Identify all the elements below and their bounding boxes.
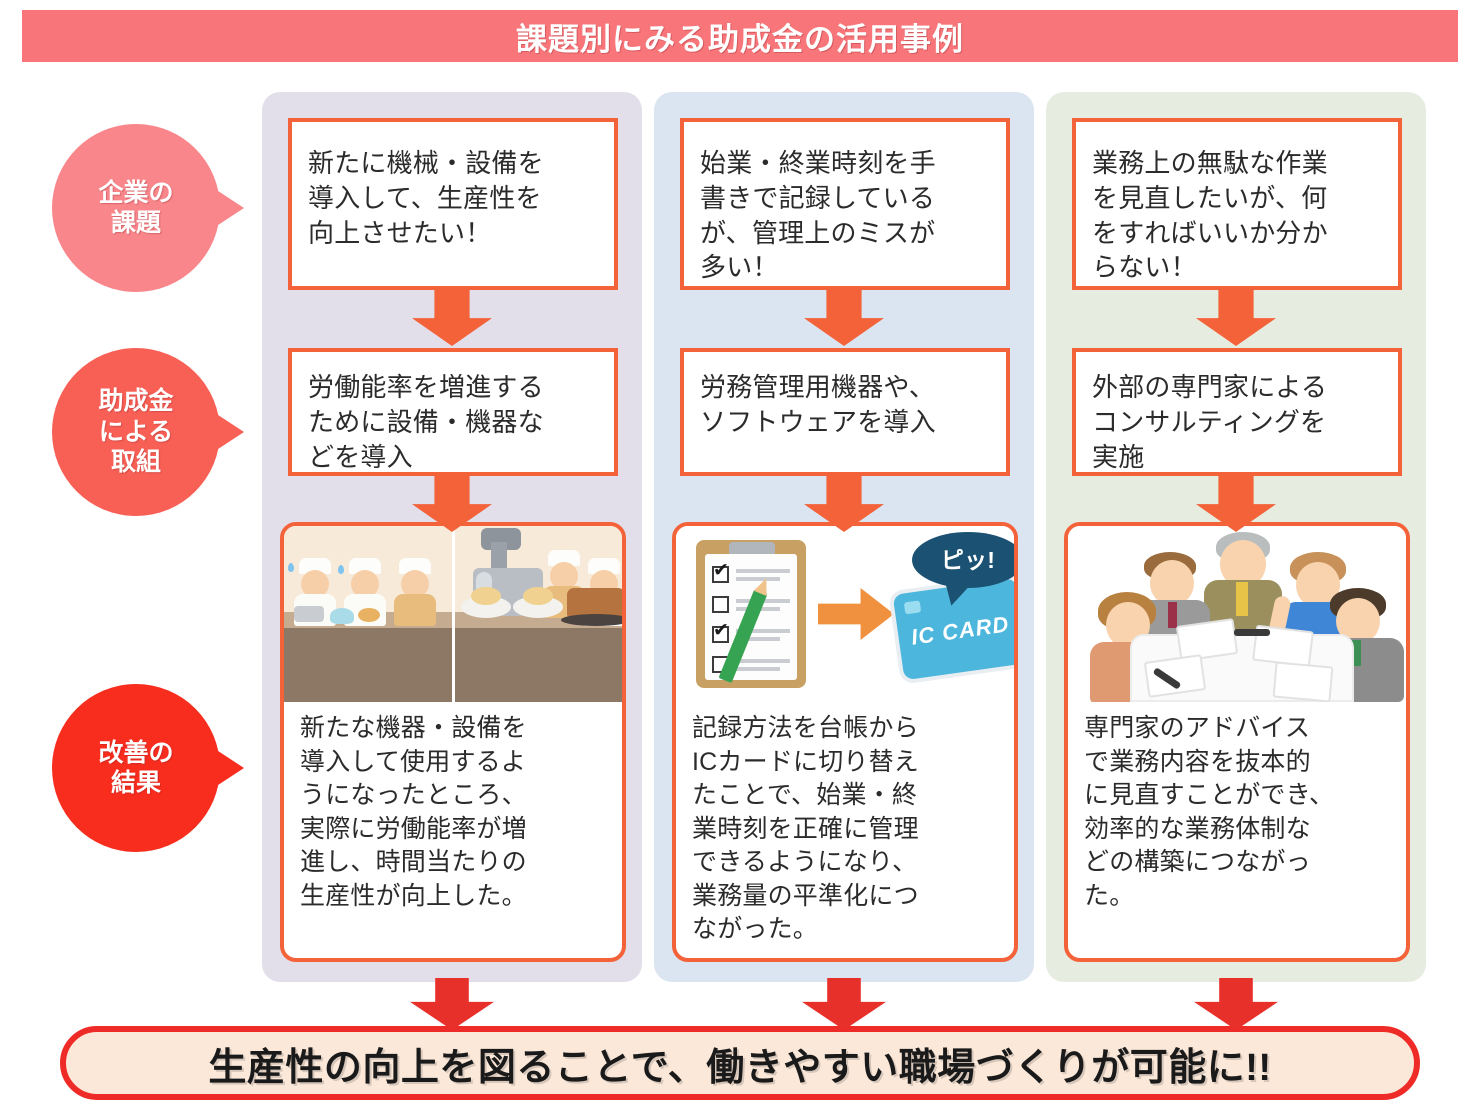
page-title-bar: 課題別にみる助成金の活用事例 [22,10,1458,62]
case-column-consulting: 業務上の無駄な作業 を見直したいが、何 をすればいいか分か らない！ 外部の専門… [1046,92,1426,982]
stage-bubble-result-line-1: 改善の [98,738,173,769]
page-title: 課題別にみる助成金の活用事例 [516,14,964,59]
challenge-card-3: 業務上の無駄な作業 を見直したいが、何 をすればいいか分か らない！ [1072,118,1402,290]
action-card-2: 労務管理用機器や、 ソフトウェアを導入 [680,348,1010,476]
summary-banner: 生産性の向上を図ることで、働きやすい職場づくりが可能に!! [60,1026,1420,1100]
stage-bubble-challenge-line-1: 企業の [98,178,173,209]
action-card-3-text: 外部の専門家による コンサルティングを 実施 [1092,370,1388,474]
challenge-card-3-text: 業務上の無駄な作業 を見直したいが、何 をすればいいか分か らない！ [1092,146,1388,285]
stage-bubble-action-line-1: 助成金 [98,386,173,417]
action-card-1-text: 労働能率を増進する ために設備・機器な どを導入 [308,370,604,474]
stage-bubble-action-line-2: による [99,417,173,448]
arrow-down-icon [1196,288,1276,346]
result-card-1: 新たな機器・設備を 導入して使用するよ うになったところ、 実際に労働能率が増 … [280,522,626,962]
consulting-meeting-illustration [1068,526,1406,702]
action-card-2-text: 労務管理用機器や、 ソフトウェアを導入 [700,370,996,440]
action-card-3: 外部の専門家による コンサルティングを 実施 [1072,348,1402,476]
beep-speech-bubble: ピッ! [912,532,1014,588]
bakery-kitchen-machine-illustration [284,526,622,702]
challenge-card-2-text: 始業・終業時刻を手 書きで記録している が、管理上のミスが 多い！ [700,146,996,285]
stage-bubble-action: 助成金 による 取組 [52,348,220,516]
case-column-timekeeping: 始業・終業時刻を手 書きで記録している が、管理上のミスが 多い！ 労務管理用機… [654,92,1034,982]
stage-bubble-action-line-3: 取組 [111,447,161,478]
result-card-3: 専門家のアドバイス で業務内容を抜本的 に見直すことができ、 効率的な業務体制な… [1064,522,1410,962]
illustration-pane-manual [284,526,452,702]
arrow-down-icon [412,288,492,346]
challenge-card-1: 新たに機械・設備を 導入して、生産性を 向上させたい！ [288,118,618,290]
ic-card-label: IC CARD [897,607,1014,653]
case-column-machinery: 新たに機械・設備を 導入して、生産性を 向上させたい！ 労働能率を増進する ため… [262,92,642,982]
arrow-right-icon [818,588,894,640]
result-card-3-text: 専門家のアドバイス で業務内容を抜本的 に見直すことができ、 効率的な業務体制な… [1068,702,1406,913]
arrow-down-icon [1194,978,1278,1030]
summary-banner-text: 生産性の向上を図ることで、働きやすい職場づくりが可能に!! [208,1036,1271,1091]
result-card-2: ✔ ✔ IC CARD ピッ! 記録方法を台帳から ICカードに切り替え たこ [672,522,1018,962]
illustration-pane-machine [452,526,623,702]
stage-bubble-challenge-line-2: 課題 [111,208,161,239]
clipboard-to-ic-card-illustration: ✔ ✔ IC CARD ピッ! [676,526,1014,702]
result-card-2-text: 記録方法を台帳から ICカードに切り替え たことで、始業・終 業時刻を正確に管理… [676,702,1014,947]
stage-bubble-challenge: 企業の 課題 [52,124,220,292]
action-card-1: 労働能率を増進する ために設備・機器な どを導入 [288,348,618,476]
clipboard-icon: ✔ ✔ [696,540,806,688]
beep-text: ピッ! [912,532,1014,588]
arrow-down-icon [804,288,884,346]
result-card-1-text: 新たな機器・設備を 導入して使用するよ うになったところ、 実際に労働能率が増 … [284,702,622,913]
stage-bubble-result-line-2: 結果 [111,768,161,799]
challenge-card-2: 始業・終業時刻を手 書きで記録している が、管理上のミスが 多い！ [680,118,1010,290]
arrow-down-icon [410,978,494,1030]
arrow-down-icon [802,978,886,1030]
challenge-card-1-text: 新たに機械・設備を 導入して、生産性を 向上させたい！ [308,146,604,250]
stage-bubble-result: 改善の 結果 [52,684,220,852]
